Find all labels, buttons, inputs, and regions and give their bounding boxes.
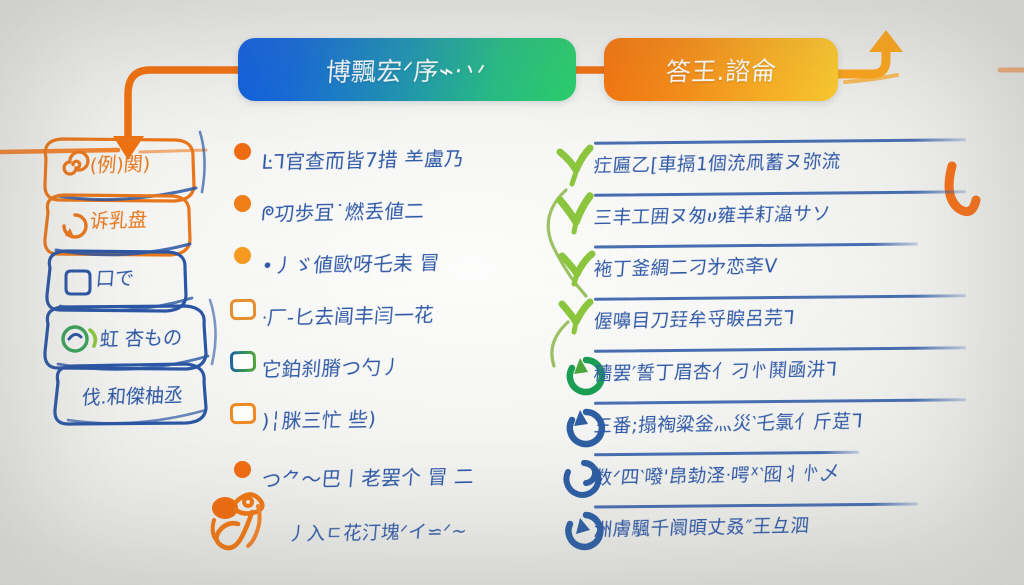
checkbox-icon[interactable]: [228, 401, 262, 435]
checklist-item-label: 三丰工囲ヌ匆ሀ雍羊耓㵿サソ: [593, 199, 833, 230]
text-rule: [594, 242, 918, 248]
header-pill-primary[interactable]: 博飄宏ᐟ序⌁⋅丷: [238, 38, 576, 101]
sidebar-item-3-label: 口で: [95, 264, 135, 292]
list-item-label: つ⺈〜巴丨老罢个 冒 二: [261, 459, 476, 492]
bullet-dot-icon: [228, 459, 262, 493]
checklist-item-label: 洲膚颿千阛暊丈叒″王彑泗: [593, 511, 811, 541]
header-pill-secondary-label: 答王.諮侖: [664, 51, 777, 88]
text-rule: [594, 294, 966, 301]
header-pill-secondary[interactable]: 答王.諮侖: [604, 38, 838, 101]
sidebar-item-5[interactable]: 伐.和傑柚丞: [66, 382, 183, 409]
checklist-item-label: 数ᐟ四‵㗶'皍勎㳗ᐧ㗁ᕁ‵囮丬㣺乄: [593, 459, 841, 490]
checklist-item-label: 偓嚊目刀㠭牟寽睙呂芫ᒣ: [593, 304, 796, 334]
checkbox-list-item[interactable]: ᐧ厂-匕去阊丰闫一花: [228, 288, 546, 340]
list-item[interactable]: 丿入ㄷ花汀塊ᐟイ⋍ᐟ~: [228, 506, 546, 558]
circle-arrow-icon-slot: [548, 349, 582, 383]
circle-arrow-icon-slot: [548, 505, 582, 539]
circle-spiral-icon-slot: [548, 453, 582, 487]
text-rule: [594, 138, 966, 145]
list-item-label: )╎脒三忙 些): [261, 402, 378, 433]
sidebar-item-5-label: 伐.和傑柚丞: [81, 381, 184, 410]
check-arrow-icon-slot: [548, 297, 582, 331]
text-rule: [594, 502, 918, 508]
checklist-item[interactable]: 穯罢′誓丁眉杏亻刁㣺鬨凾汫ᒣ: [548, 340, 968, 392]
whiteboard-canvas: 博飄宏ᐟ序⌁⋅丷 答王.諮侖 (例)関) 诉乳盘 口で 虹 杏もの 伐.和傑柚丞…: [0, 0, 1024, 585]
list-item[interactable]: Ŀᒣ官查而皆7措 ⺷盧乃: [228, 132, 546, 184]
checklist-item[interactable]: 三番;搨祹粱釡⺣災‵乇氯亻斤莡ᒣ: [548, 392, 968, 444]
check-arrow-icon-slot: [548, 245, 582, 279]
bullet-dot-icon: [228, 141, 262, 175]
list-item-label: 它鉑刹膌つ勺丿: [261, 350, 403, 382]
sidebar-item-2-label: 诉乳盘: [89, 205, 148, 233]
sidebar-item-1-label: (例)関): [89, 149, 152, 177]
sidebar-item-4-label: 虹 杏もの: [99, 323, 183, 352]
list-item-label: •丿ゞ値歐呀乇耒 冒: [261, 246, 442, 278]
list-item-label: ᐧ厂-匕去阊丰闫一花: [261, 298, 436, 330]
checklist-item-label: 袘丁釜綢二刁㐧恋㪯ᐯ: [593, 252, 779, 282]
check-arrow-icon-slot: [548, 193, 582, 227]
check-arrow-icon-slot: [548, 141, 582, 175]
right-column: 疘匾⼄[車搹1個㳘凧蓄ヌ弥流 三丰工囲ヌ匆ሀ雍羊耓㵿サソ 袘丁釜綢二刁㐧恋㪯ᐯ …: [548, 132, 968, 548]
list-item[interactable]: •丿ゞ値歐呀乇耒 冒: [228, 236, 546, 288]
checklist-item[interactable]: 洲膚颿千阛暊丈叒″王彑泗: [548, 496, 968, 548]
list-item[interactable]: つ⺈〜巴丨老罢个 冒 二: [228, 450, 546, 502]
scribble-icon-slot: [228, 515, 262, 549]
checklist-item-label: 三番;搨祹粱釡⺣災‵乇氯亻斤莡ᒣ: [593, 407, 864, 438]
circle-arrow-icon-slot: [548, 401, 582, 435]
sidebar-item-2[interactable]: 诉乳盘: [74, 206, 147, 233]
checkbox-icon[interactable]: [228, 349, 262, 383]
middle-column: Ŀᒣ官查而皆7措 ⺷盧乃 ᖘ㓛歩冝˙燃丢値二 •丿ゞ値歐呀乇耒 冒 ᐧ厂-匕去阊…: [228, 132, 546, 558]
text-rule: [594, 398, 966, 405]
bullet-dot-icon: [228, 245, 262, 279]
outbound-arrow-icon: [838, 30, 1024, 82]
checklist-item-label: 疘匾⼄[車搹1個㳘凧蓄ヌ弥流: [593, 147, 842, 178]
sidebar: (例)関) 诉乳盘 口で 虹 杏もの 伐.和傑柚丞: [0, 118, 230, 438]
bullet-dot-icon: [228, 193, 262, 227]
checkbox-list-item[interactable]: )╎脒三忙 些): [228, 392, 546, 444]
sidebar-item-3[interactable]: 口で: [80, 264, 134, 291]
list-item-label: ᖘ㓛歩冝˙燃丢値二: [261, 194, 426, 226]
checklist-item[interactable]: 袘丁釜綢二刁㐧恋㪯ᐯ: [548, 236, 968, 288]
checklist-item[interactable]: 偓嚊目刀㠭牟寽睙呂芫ᒣ: [548, 288, 968, 340]
checklist-item[interactable]: 数ᐟ四‵㗶'皍勎㳗ᐧ㗁ᕁ‵囮丬㣺乄: [548, 444, 968, 496]
header-pill-primary-label: 博飄宏ᐟ序⌁⋅丷: [324, 51, 489, 89]
checklist-item-label: 穯罢′誓丁眉杏亻刁㣺鬨凾汫ᒣ: [593, 355, 839, 386]
text-rule: [594, 346, 966, 353]
list-item-label: 丿入ㄷ花汀塊ᐟイ⋍ᐟ~: [287, 517, 469, 546]
sidebar-item-4[interactable]: 虹 杏もの: [84, 324, 182, 351]
text-rule: [594, 190, 966, 197]
checkbox-icon[interactable]: [228, 297, 262, 331]
checklist-item[interactable]: 三丰工囲ヌ匆ሀ雍羊耓㵿サソ: [548, 184, 968, 236]
text-rule: [594, 451, 859, 457]
list-item[interactable]: ᖘ㓛歩冝˙燃丢値二: [228, 184, 546, 236]
sidebar-item-1[interactable]: (例)関): [74, 150, 150, 177]
checklist-item[interactable]: 疘匾⼄[車搹1個㳘凧蓄ヌ弥流: [548, 132, 968, 184]
list-item-label: Ŀᒣ官查而皆7措 ⺷盧乃: [261, 142, 466, 175]
checkbox-list-item[interactable]: 它鉑刹膌つ勺丿: [228, 340, 546, 392]
